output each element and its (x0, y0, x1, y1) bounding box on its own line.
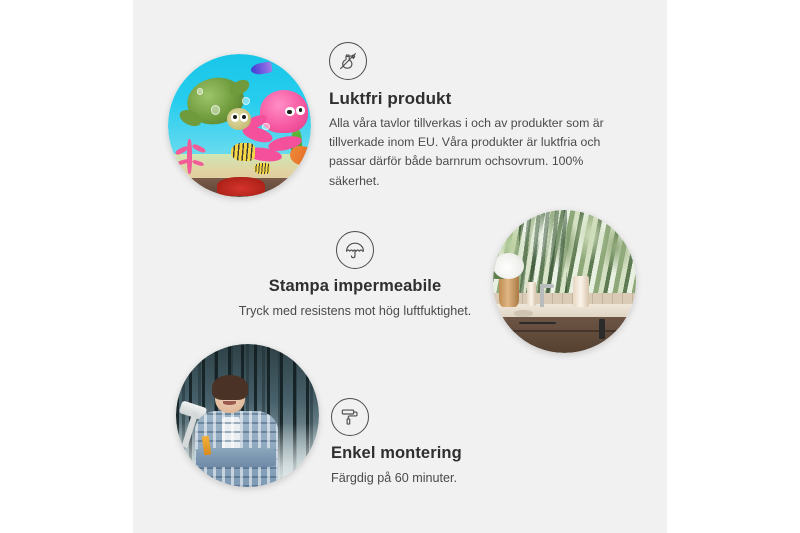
pink-coral (174, 137, 211, 177)
yellow-striped-fish-small (254, 163, 270, 174)
product-feature-banner: Luktfri produkt Alla våra tavlor tillver… (0, 0, 800, 533)
feature-text-block: Stampa impermeabile Tryck med resistens … (210, 277, 500, 321)
bubble (211, 105, 220, 114)
octopus-eye-left (285, 107, 295, 116)
feature-text-block: Enkel montering Färgdig på 60 minuter. (331, 444, 601, 488)
bubble (242, 97, 250, 105)
feature-waterproof: Stampa impermeabile Tryck med resistens … (210, 231, 500, 321)
product-photo-underwater (168, 54, 311, 197)
octopus-eye-right (296, 106, 304, 115)
wood-vanity-cabinet (493, 317, 636, 353)
feature-body: Färgdig på 60 minuter. (331, 469, 601, 489)
no-odour-spray-bottle-icon (329, 42, 367, 80)
bathroom-scene (493, 210, 636, 353)
cabinet-door-handle (599, 319, 605, 339)
underwater-scene (168, 54, 311, 197)
decor-bottle-small (527, 282, 536, 306)
feature-title: Luktfri produkt (329, 89, 619, 109)
feature-body: Alla våra tavlor tillverkas i och av pro… (329, 114, 619, 190)
painter-scene (176, 344, 319, 487)
turtle-eye-right (240, 113, 248, 122)
turtle-eye-left (231, 113, 239, 122)
bubble (197, 88, 203, 94)
woman-hair (212, 375, 248, 399)
feature-text-block: Luktfri produkt Alla våra tavlor tillver… (329, 89, 619, 191)
decor-bottle (573, 276, 589, 307)
product-photo-bathroom (493, 210, 636, 353)
drawer-seam (493, 330, 636, 332)
red-rock (217, 177, 266, 196)
feature-title: Enkel montering (331, 444, 601, 464)
yellow-striped-fish (231, 143, 255, 162)
faucet-body (540, 284, 544, 307)
feature-body: Tryck med resistens mot hög luftfuktighe… (210, 302, 500, 322)
drawer-handle (519, 322, 556, 323)
umbrella-icon (336, 231, 374, 269)
feature-title: Stampa impermeabile (210, 277, 500, 297)
turtle-head (227, 108, 251, 129)
product-photo-painter (176, 344, 319, 487)
paint-roller-icon (331, 398, 369, 436)
